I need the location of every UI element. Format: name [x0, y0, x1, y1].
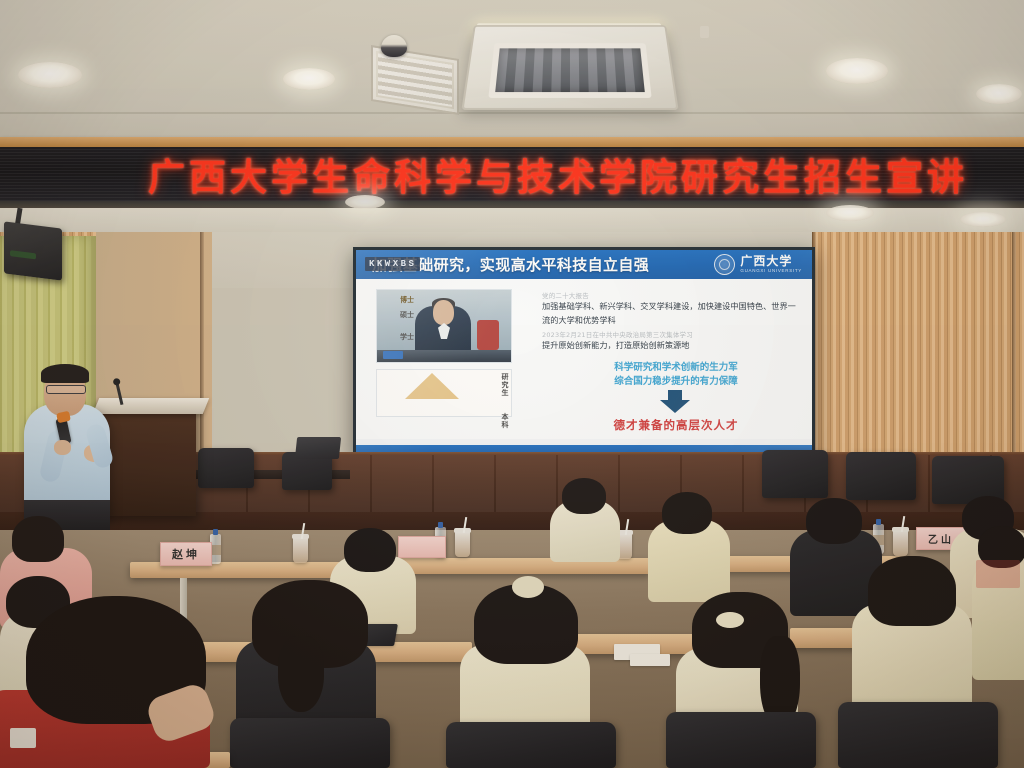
slide-source-2: 2023年2月21日在中共中央政治局第三次集体学习 — [542, 329, 693, 339]
slide-watermark: KKWXBS — [365, 257, 420, 271]
banner-ledge — [0, 137, 1024, 147]
recessed-downlight — [976, 84, 1022, 104]
audience-head — [662, 492, 712, 534]
pyramid-side-label-graduate: 研究生 — [501, 373, 509, 397]
recessed-downlight — [283, 68, 335, 90]
cassette-air-conditioner — [461, 25, 678, 110]
recessed-downlight — [960, 212, 1006, 227]
drink-cup — [455, 531, 470, 557]
university-name-en: GUANGXI UNIVERSITY — [740, 269, 802, 274]
hair-scrunchie — [512, 576, 544, 598]
stage-laptop — [295, 437, 341, 459]
degree-pyramid-diagram — [376, 369, 512, 417]
university-seal-icon — [714, 254, 735, 275]
ceiling-sensor-icon — [700, 26, 709, 38]
audience-head — [868, 556, 956, 626]
stage-chair — [198, 448, 254, 488]
chair — [230, 718, 390, 768]
slide-body-text-1: 加强基础学科、新兴学科、交叉学科建设，加快建设中国特色、世界一流的大学和优势学科 — [542, 300, 800, 327]
stage-chair — [762, 450, 828, 498]
stage-chair — [846, 452, 916, 500]
slide-highlight-blue-line1: 科学研究和学术创新的生力军 — [556, 361, 796, 375]
pyramid-shape — [405, 373, 459, 399]
pyramid-level-master: 硕士 — [400, 310, 414, 320]
presenter-hair — [41, 364, 89, 383]
university-name-cn: 广西大学 — [740, 255, 802, 267]
slide-body-text-2: 提升原始创新能力，打造原始创新策源地 — [542, 339, 800, 353]
slide-source-1: 党的二十大报告 — [542, 290, 589, 300]
banner-under-trim — [0, 201, 1024, 208]
chair — [666, 712, 816, 768]
audience-head — [806, 498, 862, 544]
university-logo-text: 广西大学 GUANGXI UNIVERSITY — [740, 255, 802, 274]
audience-ponytail — [278, 636, 324, 712]
led-banner-text: 广西大学生命科学与技术学院研究生招生宣讲 — [148, 147, 968, 201]
recessed-downlight — [826, 58, 888, 84]
slide-photo — [376, 289, 512, 363]
ac-grille — [488, 43, 651, 98]
led-banner: 广西大学生命科学与技术学院研究生招生宣讲 — [0, 147, 1024, 201]
pyramid-level-bachelor: 学士 — [400, 332, 414, 342]
podium — [100, 404, 196, 516]
clothing-label — [10, 728, 36, 748]
ceiling-seam — [0, 112, 1024, 114]
presenter-hand-left — [54, 440, 71, 455]
shirt-print — [976, 560, 1020, 588]
drink-cup — [893, 530, 908, 556]
paper-handout — [630, 654, 670, 666]
name-card: 赵坤 — [160, 542, 212, 566]
presentation-slide: 加强基础研究，实现高水平科技自立自强 KKWXBS 广西大学 GUANGXI U… — [356, 250, 812, 456]
chair — [446, 722, 616, 768]
recessed-downlight — [18, 62, 82, 88]
drink-cup — [293, 537, 308, 563]
pyramid-level-doctor: 博士 — [400, 295, 414, 305]
lecture-hall-photo: 广西大学生命科学与技术学院研究生招生宣讲 加强基础研究，实现高水平科技自立自强 … — [0, 0, 1024, 768]
name-card — [398, 536, 446, 558]
hair-scrunchie — [716, 612, 744, 628]
audience-head — [344, 528, 396, 572]
slide-highlight-blue-line2: 综合国力稳步提升的有力保障 — [556, 375, 796, 389]
pyramid-side-label-undergrad: 本科 — [501, 413, 509, 429]
name-card-text: 赵坤 — [172, 546, 200, 562]
chair — [838, 702, 998, 768]
slide-highlight-blue: 科学研究和学术创新的生力军 综合国力稳步提升的有力保障 — [556, 361, 796, 389]
photo-figure-head — [433, 300, 454, 325]
projection-screen: 加强基础研究，实现高水平科技自立自强 KKWXBS 广西大学 GUANGXI U… — [353, 247, 815, 459]
name-card-text: 乙山 — [928, 531, 954, 546]
slide-conclusion-red: 德才兼备的高层次人才 — [556, 417, 796, 433]
presenter-glasses-icon — [46, 385, 86, 394]
wall-speaker — [4, 221, 62, 280]
audience-head — [12, 516, 64, 562]
photo-nameplate — [383, 351, 403, 359]
photo-chair — [477, 320, 499, 350]
down-arrow-head-icon — [660, 400, 690, 413]
slide-body: 博士 硕士 学士 研究生 本科 党的二十大报告 加强基础学科、新兴学科、交叉学科… — [356, 279, 812, 439]
recessed-downlight — [345, 195, 385, 209]
university-logo: 广西大学 GUANGXI UNIVERSITY — [714, 254, 802, 275]
podium-top — [93, 398, 209, 414]
dome-security-camera-icon — [381, 35, 407, 57]
audience-head — [562, 478, 606, 514]
recessed-downlight — [826, 205, 874, 221]
